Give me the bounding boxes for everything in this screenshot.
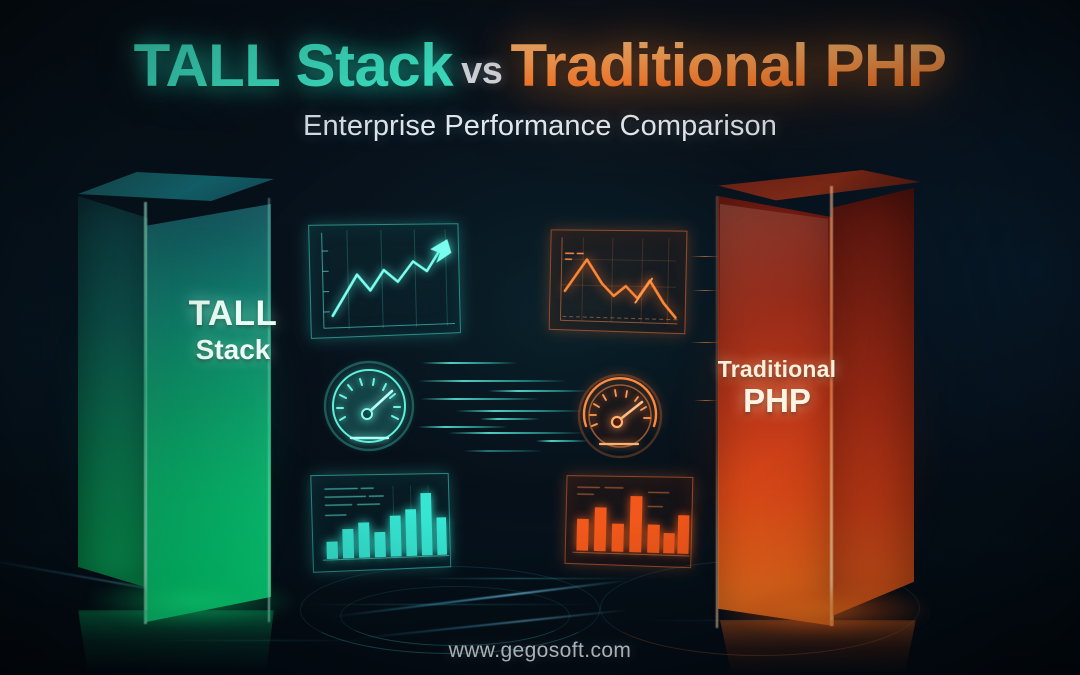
data-stream-line-10: [464, 450, 544, 452]
pillar-tall-label: TALL Stack: [178, 296, 288, 365]
floor-streak-2: [300, 604, 600, 605]
pillar-tall-left-face: [78, 196, 148, 588]
pillar-tall-front-face: [146, 204, 271, 622]
pillar-tall-front-edge: [144, 202, 147, 624]
data-stream-line-6: [480, 418, 540, 420]
pillar-tall-label-line2: Stack: [178, 335, 288, 364]
floor-streak-1: [420, 578, 640, 579]
data-stream-lines: [418, 352, 588, 464]
page-subtitle: Enterprise Performance Comparison: [0, 110, 1080, 143]
pillar-php-right-face: [832, 188, 914, 616]
page-title: TALL StackvsTraditional PHP: [0, 36, 1080, 96]
pillar-php-label-line2: PHP: [716, 384, 838, 418]
title-tall-stack: TALL Stack: [134, 32, 454, 99]
data-stream-line-7: [418, 426, 508, 428]
pillar-php-sheen: [720, 204, 828, 504]
pillar-php-label: Traditional PHP: [716, 358, 838, 418]
data-stream-line-8: [448, 432, 584, 434]
data-stream-line-1: [422, 362, 518, 364]
pillar-tall-stack: [78, 172, 308, 610]
comparison-banner-scene: TALL StackvsTraditional PHP Enterprise P…: [0, 0, 1080, 675]
pillar-tall-label-line1: TALL: [178, 296, 288, 332]
data-stream-line-4: [420, 398, 540, 400]
title-block: TALL StackvsTraditional PHP Enterprise P…: [0, 36, 1080, 143]
footer-website: www.gegosoft.com: [0, 639, 1080, 663]
title-vs: vs: [453, 50, 510, 92]
data-stream-line-2: [418, 380, 568, 382]
pillar-php-label-line1: Traditional: [716, 358, 838, 382]
title-traditional-php: Traditional PHP: [510, 32, 946, 99]
pillar-tall-right-edge: [268, 198, 270, 622]
data-stream-line-5: [456, 410, 584, 412]
